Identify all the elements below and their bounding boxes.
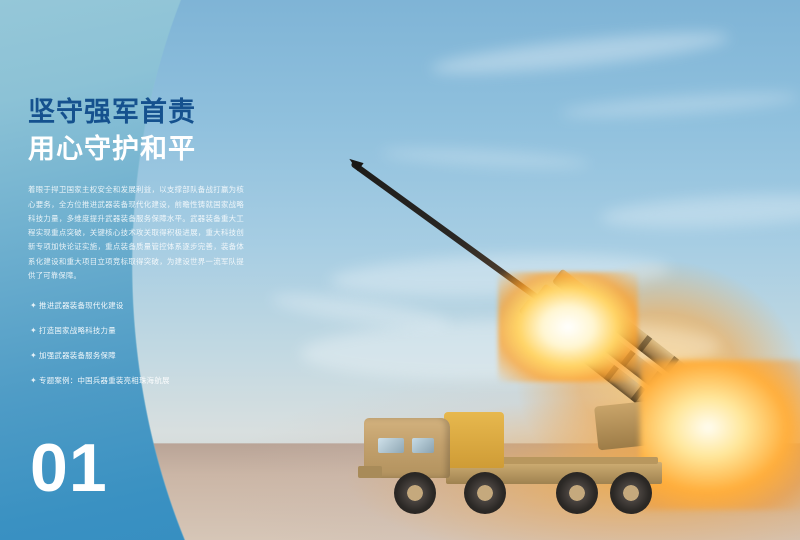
bullet-marker-icon: ✦ <box>30 302 39 310</box>
section-number: 01 <box>30 434 108 502</box>
list-item[interactable]: ✦ 专题案例：中国兵器重装亮相珠海航展 <box>30 375 260 386</box>
slide-canvas: 坚守强军首责 用心守护和平 着眼于捍卫国家主权安全和发展利益，以支撑部队备战打赢… <box>0 0 800 540</box>
list-item[interactable]: ✦ 打造国家战略科技力量 <box>30 325 260 336</box>
list-item[interactable]: ✦ 推进武器装备现代化建设 <box>30 300 260 311</box>
bullet-marker-icon: ✦ <box>30 327 39 335</box>
body-paragraph: 着眼于捍卫国家主权安全和发展利益，以支撑部队备战打赢为核心要务，全方位推进武器装… <box>28 183 244 283</box>
title-line-2: 用心守护和平 <box>28 131 244 168</box>
list-item[interactable]: ✦ 加强武器装备服务保障 <box>30 350 260 361</box>
title-line-1: 坚守强军首责 <box>28 94 244 131</box>
list-item-label: 推进武器装备现代化建设 <box>39 300 124 311</box>
bullet-marker-icon: ✦ <box>30 377 39 385</box>
list-item-label: 加强武器装备服务保障 <box>39 350 116 361</box>
bullet-marker-icon: ✦ <box>30 352 39 360</box>
list-item-label: 专题案例：中国兵器重装亮相珠海航展 <box>39 375 170 386</box>
list-item-label: 打造国家战略科技力量 <box>39 325 116 336</box>
bullet-list: ✦ 推进武器装备现代化建设 ✦ 打造国家战略科技力量 ✦ 加强武器装备服务保障 … <box>30 300 260 400</box>
headline-block: 坚守强军首责 用心守护和平 着眼于捍卫国家主权安全和发展利益，以支撑部队备战打赢… <box>28 94 244 290</box>
page-title: 坚守强军首责 用心守护和平 <box>28 94 244 167</box>
